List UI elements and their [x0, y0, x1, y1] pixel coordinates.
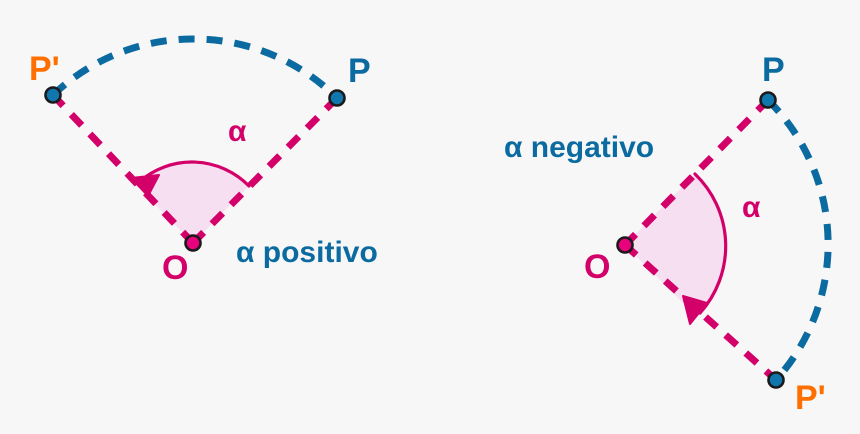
label-o-positive: O	[162, 249, 188, 287]
label-p-negative: P	[762, 51, 785, 89]
rotation-angle-diagram: P' P O α α positivo P P' O α α negativo	[0, 0, 860, 434]
background	[0, 0, 860, 434]
vertex-pprime-negative	[769, 373, 784, 388]
vertex-o-negative	[618, 238, 633, 253]
vertex-pprime-positive	[46, 88, 61, 103]
label-alpha-positive: α	[228, 115, 247, 148]
vertex-p-positive	[330, 91, 345, 106]
caption-positive: α positivo	[236, 236, 378, 269]
label-pprime-negative: P'	[795, 379, 826, 417]
label-alpha-negative: α	[742, 191, 761, 224]
caption-negative: α negativo	[504, 131, 654, 164]
label-p-positive: P	[348, 52, 371, 90]
label-o-negative: O	[584, 248, 610, 286]
diagram-canvas: P' P O α α positivo P P' O α α negativo	[0, 0, 860, 434]
label-pprime-positive: P'	[29, 50, 60, 88]
vertex-p-negative	[761, 93, 776, 108]
